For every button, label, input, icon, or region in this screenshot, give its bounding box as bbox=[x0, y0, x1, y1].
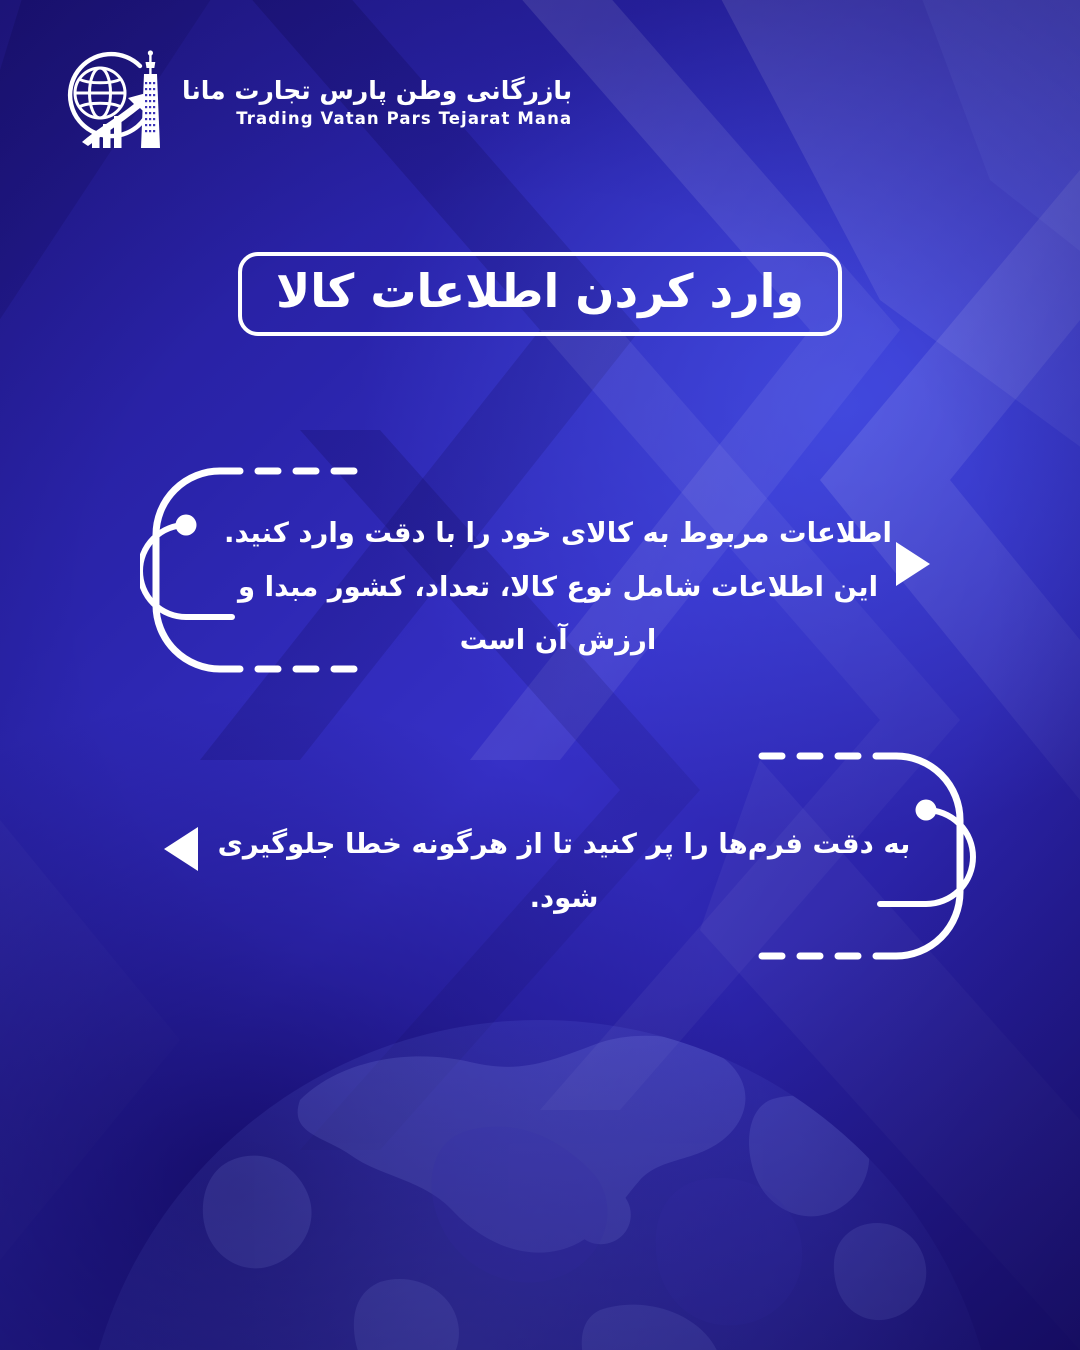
arc-endpoint-dot-icon bbox=[176, 515, 197, 536]
triangle-right-icon bbox=[892, 540, 932, 588]
brand-logo[interactable]: بازرگانی وطن پارس تجارت مانا Trading Vat… bbox=[58, 46, 572, 154]
globe-arrow-chart-tower-logo-icon bbox=[58, 46, 168, 154]
triangle-left-icon bbox=[162, 825, 202, 873]
page-title: وارد کردن اطلاعات کالا bbox=[238, 252, 842, 336]
brand-name-fa: بازرگانی وطن پارس تجارت مانا bbox=[182, 77, 572, 106]
brand-name-en: Trading Vatan Pars Tejarat Mana bbox=[236, 109, 572, 130]
brand-text: بازرگانی وطن پارس تجارت مانا Trading Vat… bbox=[182, 71, 572, 129]
poster-canvas: بازرگانی وطن پارس تجارت مانا Trading Vat… bbox=[0, 0, 1080, 1350]
info-block-2: به دقت فرم‌ها را پر کنید تا از هرگونه خط… bbox=[150, 740, 980, 990]
header: بازرگانی وطن پارس تجارت مانا Trading Vat… bbox=[0, 46, 1080, 166]
page-title-text: وارد کردن اطلاعات کالا bbox=[276, 268, 804, 314]
info-block-1-text: اطلاعات مربوط به کالای خود را با دقت وار… bbox=[198, 507, 918, 668]
info-block-2-text: به دقت فرم‌ها را پر کنید تا از هرگونه خط… bbox=[214, 818, 914, 925]
arc-endpoint-dot-icon bbox=[916, 800, 937, 821]
info-block-1: اطلاعات مربوط به کالای خود را با دقت وار… bbox=[140, 455, 970, 700]
